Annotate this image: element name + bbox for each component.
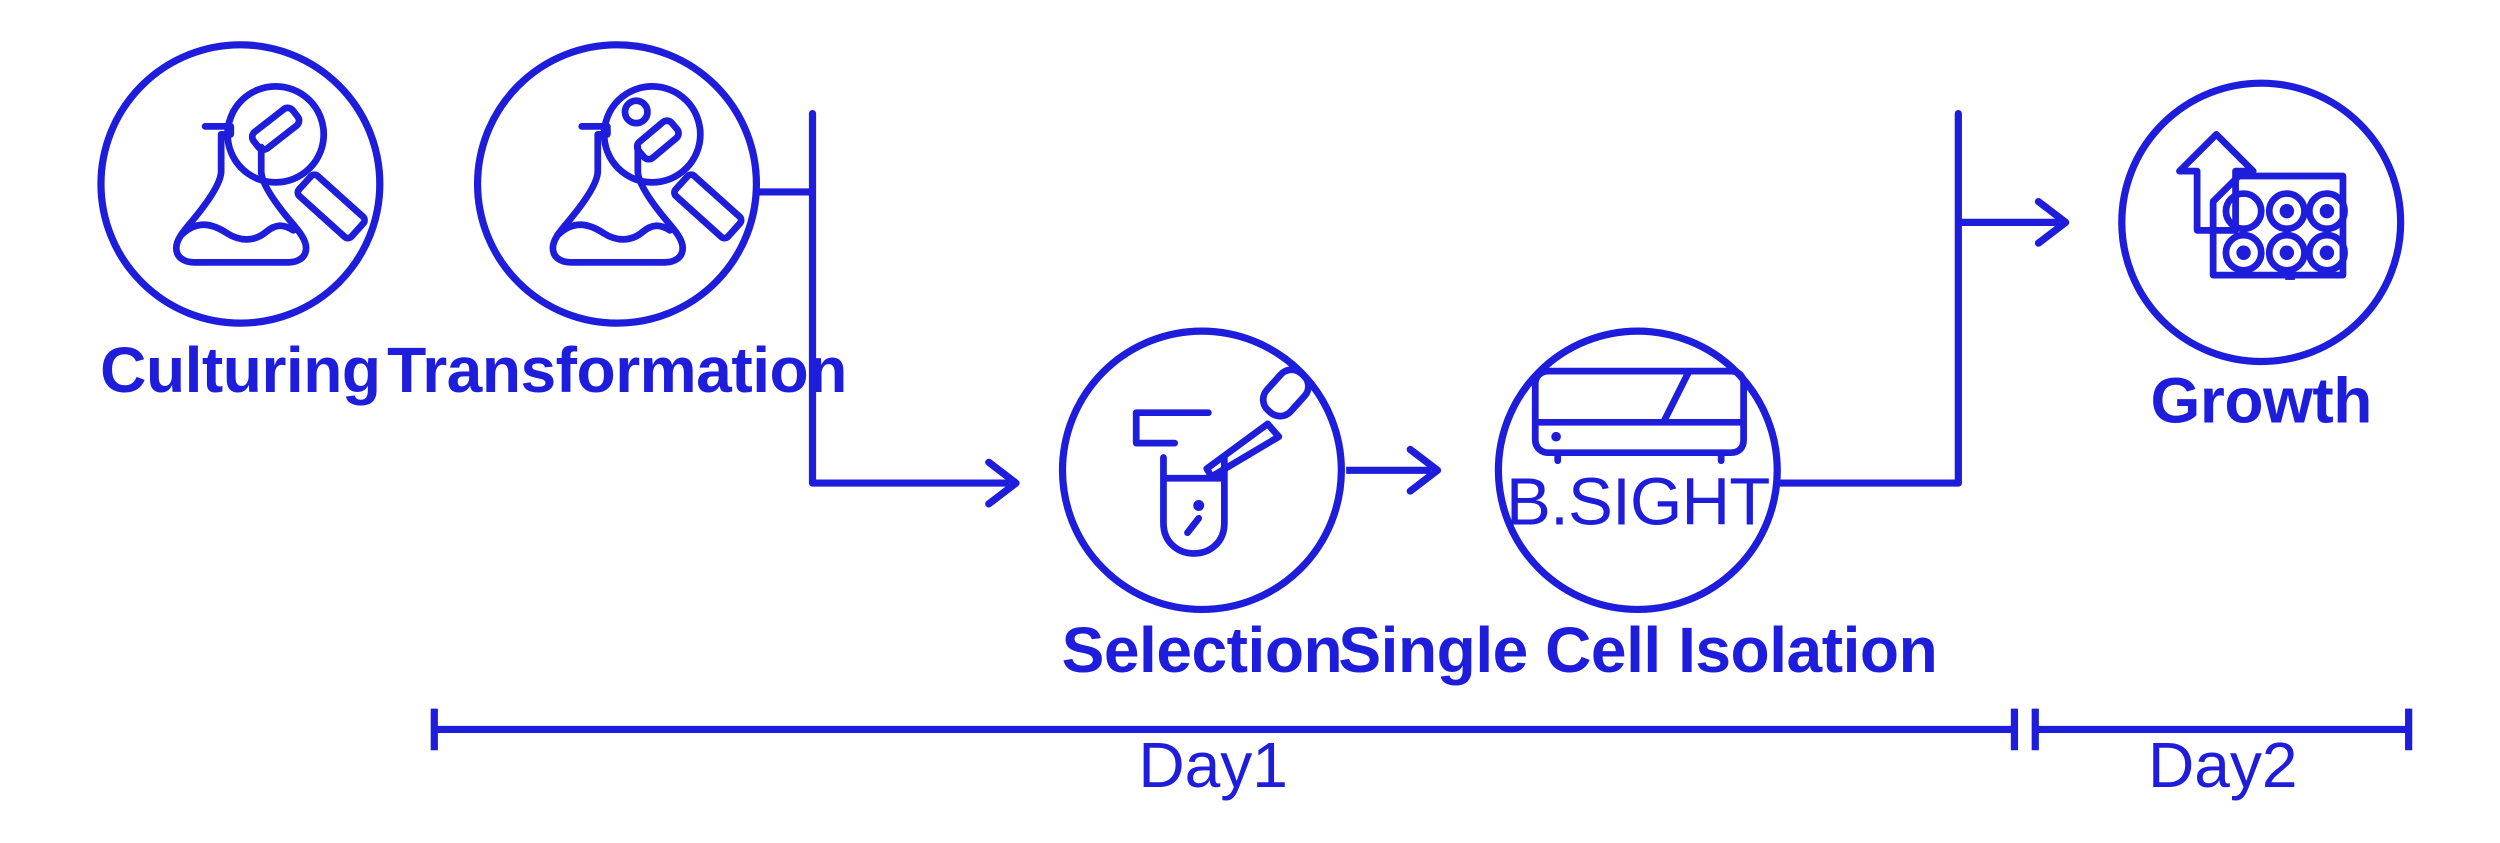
connector-transformation-to-selection: [756, 114, 1016, 504]
connector-selection-to-isolation: [1346, 449, 1437, 491]
test-tube-pipette-icon: [1136, 364, 1314, 554]
flask-magnifier-icon: [176, 86, 366, 262]
connector-isolation-to-growth: [1779, 114, 2066, 484]
timeline-label-day2: Day2: [2148, 729, 2298, 801]
node-label-transformation: Transformation: [387, 334, 847, 406]
diagram-canvas: Culturing Transformation Selection B.SIG…: [0, 0, 2500, 843]
node-circle-transformation: [478, 45, 757, 323]
node-single-cell-isolation[interactable]: B.SIGHT Single Cell Isolation: [1338, 331, 1937, 686]
bsight-brand-label: B.SIGHT: [1506, 465, 1770, 540]
node-label-culturing: Culturing: [100, 334, 380, 406]
well-plate-arrow-icon: [2179, 134, 2344, 280]
node-selection[interactable]: Selection: [1062, 331, 1343, 686]
timeline-segment-day2: Day2: [2035, 709, 2408, 801]
node-label-selection: Selection: [1062, 614, 1343, 686]
timeline-segment-day1: Day1: [434, 709, 2014, 801]
node-circle-culturing: [101, 45, 380, 323]
timeline-label-day1: Day1: [1138, 729, 1288, 801]
node-culturing[interactable]: Culturing: [100, 45, 380, 406]
workflow-diagram: Culturing Transformation Selection B.SIG…: [0, 0, 2500, 843]
node-transformation[interactable]: Transformation: [387, 45, 847, 406]
timeline: Day1 Day2: [434, 709, 2408, 801]
node-label-single-cell-isolation: Single Cell Isolation: [1338, 614, 1937, 686]
node-growth[interactable]: Growth: [2122, 83, 2401, 436]
flask-magnifier-plasmid-icon: [553, 86, 743, 262]
node-label-growth: Growth: [2151, 364, 2372, 436]
bsight-instrument-icon: [1535, 371, 1743, 461]
